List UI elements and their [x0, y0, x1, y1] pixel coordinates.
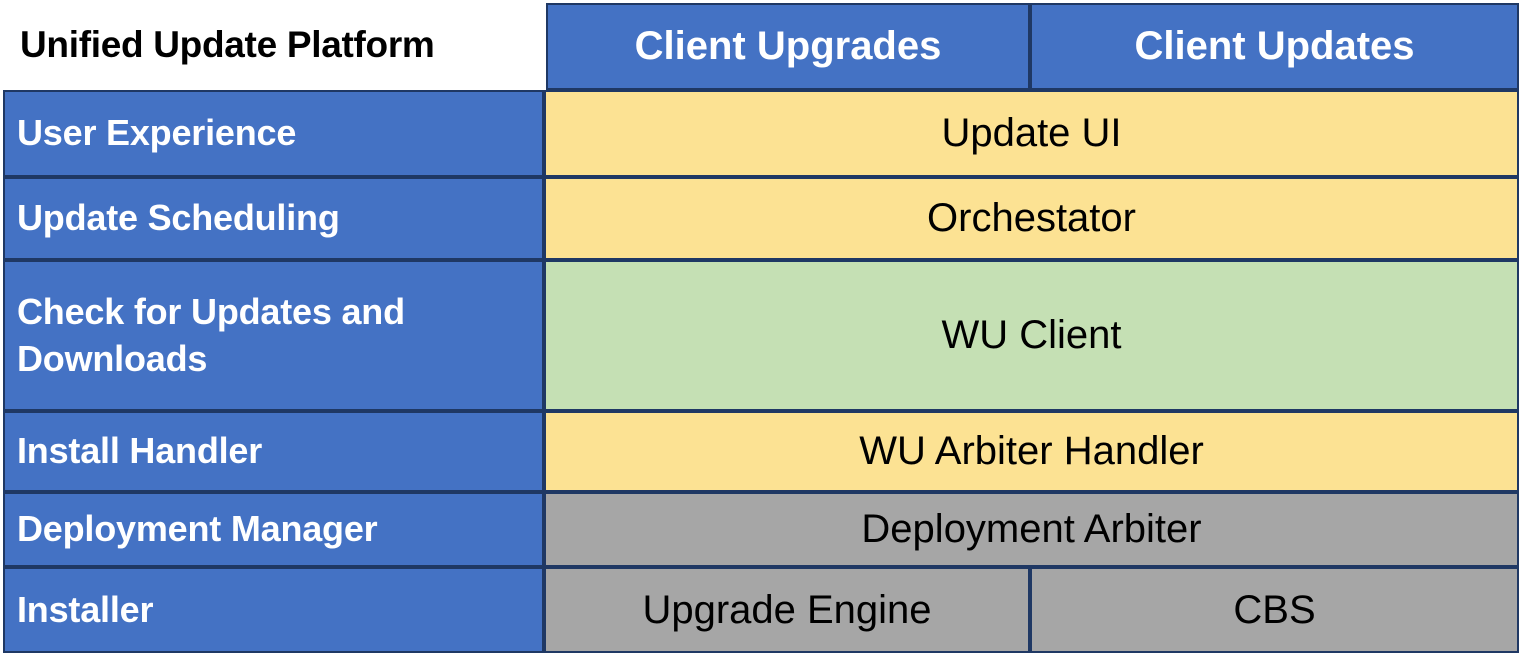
- cell-deployment-arbiter: Deployment Arbiter: [544, 492, 1519, 567]
- column-header-client-updates: Client Updates: [1030, 3, 1519, 90]
- unified-update-platform-table: Unified Update Platform Client Upgrades …: [0, 0, 1522, 656]
- cell-wu-client: WU Client: [544, 260, 1519, 411]
- cell-cbs: CBS: [1030, 567, 1519, 653]
- cell-wu-arbiter-handler: WU Arbiter Handler: [544, 411, 1519, 492]
- table-corner-title: Unified Update Platform: [0, 0, 544, 90]
- cell-orchestator: Orchestator: [544, 177, 1519, 260]
- cell-upgrade-engine: Upgrade Engine: [544, 567, 1030, 653]
- row-label-user-experience: User Experience: [3, 90, 544, 177]
- cell-update-ui: Update UI: [544, 90, 1519, 177]
- row-label-check-for-updates-and-downloads: Check for Updates and Downloads: [3, 260, 544, 411]
- column-header-client-upgrades: Client Upgrades: [546, 3, 1030, 90]
- row-label-install-handler: Install Handler: [3, 411, 544, 492]
- row-label-installer: Installer: [3, 567, 544, 653]
- row-label-update-scheduling: Update Scheduling: [3, 177, 544, 260]
- row-label-deployment-manager: Deployment Manager: [3, 492, 544, 567]
